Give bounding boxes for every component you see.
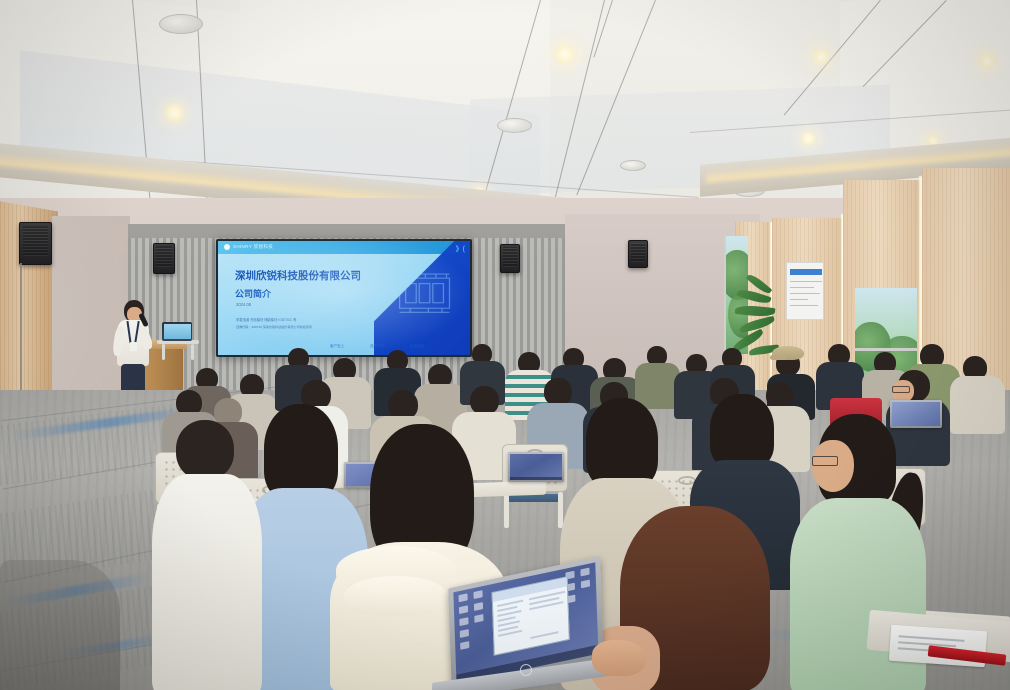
attendee-head xyxy=(470,386,499,415)
desktop-icon[interactable] xyxy=(473,590,482,599)
hp-laptop-foreground[interactable] xyxy=(432,572,614,690)
hp-logo xyxy=(520,664,532,676)
desktop-icon[interactable] xyxy=(460,629,469,638)
foreground-dark-shape xyxy=(0,560,120,690)
hand xyxy=(592,640,646,676)
glasses-icon xyxy=(812,456,838,466)
attendee-hair xyxy=(264,404,338,500)
attendee-white-tee xyxy=(152,420,262,690)
desktop-icon[interactable] xyxy=(581,580,590,589)
attendee-face xyxy=(812,440,854,492)
file-dialog-window[interactable] xyxy=(492,576,570,656)
desktop-icon[interactable] xyxy=(460,641,469,650)
desktop-icon[interactable] xyxy=(474,614,483,623)
desktop-icon[interactable] xyxy=(458,593,467,602)
desktop-icon[interactable] xyxy=(459,617,468,626)
desktop-icon[interactable] xyxy=(580,568,589,577)
conference-room-photo: SHINRY 欣锐科技 》( 深圳欣锐科技股份有限公司 公司简介 xyxy=(0,0,1010,690)
desktop-icon[interactable] xyxy=(459,605,468,614)
desktop-icon[interactable] xyxy=(474,602,483,611)
glasses-icon xyxy=(892,386,910,393)
laptop[interactable] xyxy=(508,452,564,486)
